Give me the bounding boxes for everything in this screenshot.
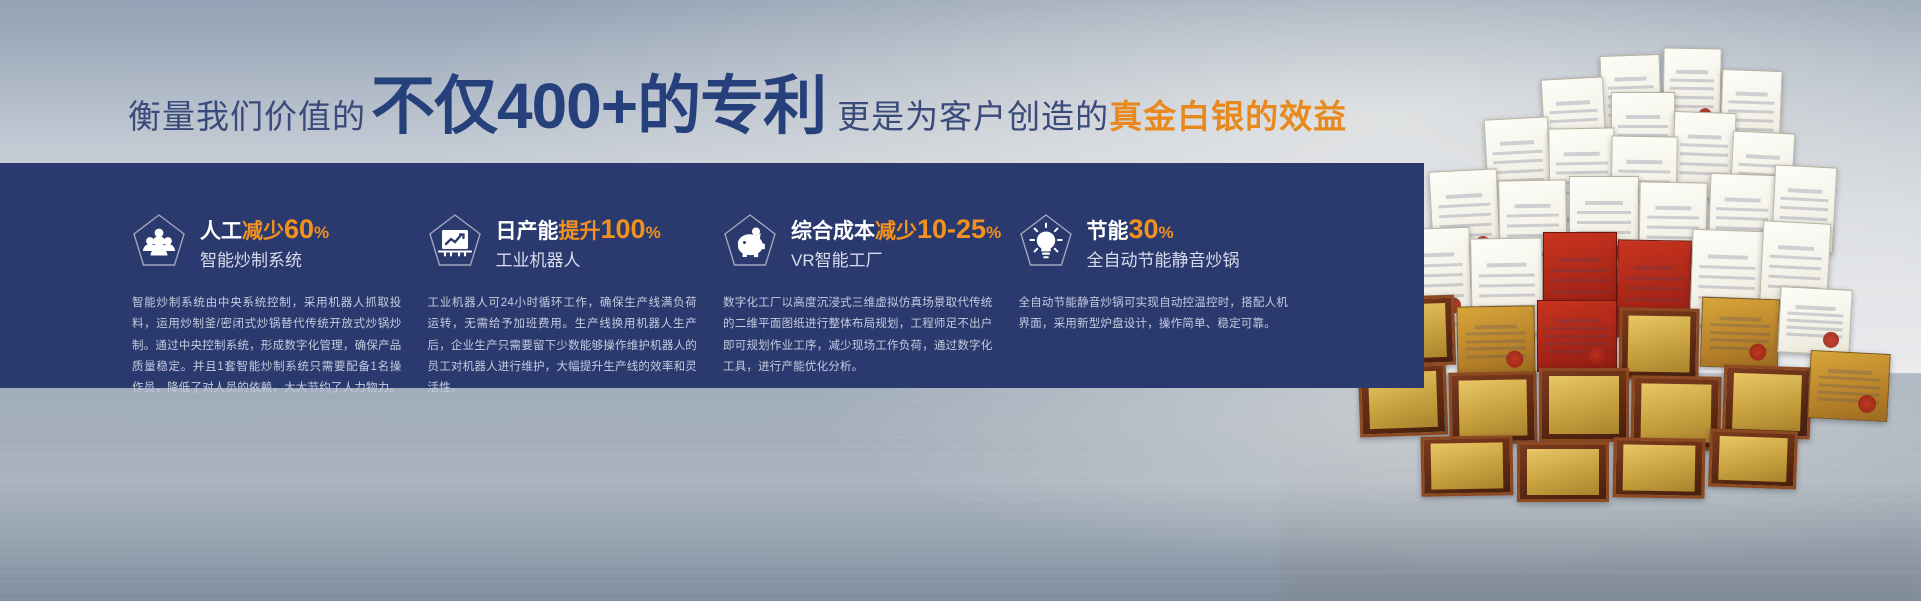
metric-number: 10-25 <box>917 214 986 244</box>
cert-line <box>1546 327 1608 330</box>
headline-accent: 真金白银的效益 <box>1109 90 1347 138</box>
cert-line <box>1546 335 1608 338</box>
piggy-bank-icon <box>723 213 777 271</box>
cert-line <box>1788 188 1822 194</box>
cert-line <box>1474 324 1517 329</box>
cert-line <box>1500 140 1535 146</box>
feature-title-4: 节能30%全自动节能静音炒锅 <box>1087 214 1240 269</box>
cert-line <box>1670 78 1715 82</box>
cert-line <box>1710 331 1771 336</box>
metric-prefix: 人工 <box>200 220 242 243</box>
plaque-face <box>1732 373 1803 431</box>
cert-line <box>1647 226 1700 230</box>
cert-line <box>1677 70 1708 75</box>
cert-line <box>1514 204 1551 209</box>
cert-line <box>1551 279 1609 282</box>
cert-line <box>1708 255 1747 260</box>
headline: 衡量我们价值的 不仅400+的专利 更是为客户创造的 真金白银的效益 <box>128 74 1347 138</box>
cert-line <box>1577 221 1631 224</box>
cert-line <box>1549 109 1597 115</box>
cert-line <box>1680 143 1728 148</box>
cert-line <box>1680 152 1728 157</box>
cert-line <box>1735 92 1768 97</box>
metric-prefix: 节能 <box>1087 220 1129 243</box>
cert-line <box>1507 224 1560 228</box>
cert-seal <box>1823 331 1840 348</box>
cert-line <box>1670 87 1715 91</box>
cert-line <box>1607 86 1653 91</box>
feature-metric-2: 日产能提升100% <box>496 214 661 244</box>
cert-line <box>1494 168 1544 174</box>
feature-header-4: 节能30%全自动节能静音炒锅 <box>1019 163 1289 271</box>
cert-line <box>1647 216 1700 220</box>
cert-line <box>1787 325 1843 331</box>
cert-seal <box>1858 395 1877 414</box>
cert-line <box>1655 206 1692 211</box>
plaque-face <box>1627 316 1690 373</box>
cert-line <box>1769 265 1822 271</box>
cert-line <box>1487 263 1526 268</box>
cert-line <box>1746 154 1780 160</box>
people-group-icon <box>132 213 186 271</box>
cert-line <box>1619 170 1670 174</box>
feature-title-3: 综合成本减少10-25%VR智能工厂 <box>791 214 1001 269</box>
cert-line <box>1634 266 1674 271</box>
metric-prefix: 日产能 <box>496 220 559 243</box>
cert-line <box>1479 273 1535 277</box>
cert-line <box>1551 290 1609 293</box>
cert-line <box>1625 287 1683 291</box>
certificate-38 <box>1708 428 1798 489</box>
feature-body-4: 全自动节能静音炒锅可实现自动控温控时，搭配人机界面，采用新型炉盘设计，操作简单、… <box>1019 293 1289 336</box>
cert-line <box>1465 332 1526 336</box>
feature-item-1: 人工减少60%智能炒制系统智能炒制系统由中央系统控制，采用机器人抓取投料，运用炒… <box>132 163 428 388</box>
cert-line <box>1625 276 1683 280</box>
feature-header-3: 综合成本减少10-25%VR智能工厂 <box>723 163 993 271</box>
cert-line <box>1688 134 1722 139</box>
cert-line <box>1768 275 1821 281</box>
feature-title-2: 日产能提升100%工业机器人 <box>496 214 661 269</box>
cert-line <box>1564 152 1600 157</box>
cert-line <box>1555 319 1599 323</box>
certificate-28 <box>1777 286 1852 356</box>
cert-line <box>1556 171 1607 175</box>
plaque-face <box>1430 443 1503 490</box>
cert-line <box>1614 77 1647 82</box>
certificate-24 <box>1456 305 1535 376</box>
cert-line <box>1680 162 1728 167</box>
cert-line <box>1780 197 1828 203</box>
cert-seal <box>1507 351 1524 368</box>
cert-line <box>1556 161 1607 165</box>
headline-emphasis: 不仅400+的专利 <box>366 74 831 138</box>
metric-highlight: 减少 <box>242 220 284 243</box>
cert-line <box>1779 215 1827 221</box>
feature-item-3: 综合成本减少10-25%VR智能工厂数字化工厂以高度沉浸式三维虚拟仿真场景取代传… <box>723 163 1019 388</box>
cert-line <box>1709 338 1770 343</box>
certificate-35 <box>1420 435 1513 497</box>
certificate-30 <box>1448 371 1537 445</box>
metric-number: 60 <box>284 214 314 244</box>
feature-subtitle-3: VR智能工厂 <box>791 251 1001 270</box>
certificate-33 <box>1722 364 1812 439</box>
cert-line <box>1618 125 1668 128</box>
cert-line <box>1585 201 1623 205</box>
headline-middle: 更是为客户创造的 <box>831 90 1109 138</box>
feature-header-2: 日产能提升100%工业机器人 <box>428 163 698 271</box>
metric-unit: % <box>314 223 329 242</box>
cert-line <box>1796 305 1835 311</box>
cert-line <box>1626 115 1661 119</box>
cert-line <box>1818 383 1880 389</box>
feature-metric-4: 节能30% <box>1087 214 1240 244</box>
certificate-26 <box>1618 307 1699 380</box>
cert-line <box>1769 255 1822 261</box>
cert-line <box>1466 339 1527 343</box>
cert-line <box>1506 214 1559 218</box>
cert-line <box>1818 376 1880 382</box>
cert-line <box>1728 101 1774 106</box>
cert-line <box>1717 207 1768 212</box>
cert-line <box>1560 258 1600 262</box>
certificate-34 <box>1807 350 1890 422</box>
lightbulb-icon <box>1019 213 1073 271</box>
feature-body-3: 数字化工厂以高度沉浸式三维虚拟仿真场景取代传统的二维平面图纸进行整体布局规划，工… <box>723 293 993 378</box>
plaque-face <box>1718 436 1788 482</box>
cert-line <box>1777 245 1814 251</box>
cert-line <box>1699 285 1755 290</box>
cert-line <box>1699 265 1755 270</box>
feature-header-1: 人工减少60%智能炒制系统 <box>132 163 402 271</box>
cert-line <box>1550 118 1598 124</box>
cert-line <box>1699 275 1755 280</box>
cert-line <box>1438 203 1491 209</box>
cert-line <box>1716 216 1767 221</box>
cert-line <box>1780 206 1828 212</box>
certificate-31 <box>1539 368 1629 442</box>
certificate-25 <box>1537 300 1617 372</box>
cert-line <box>1556 100 1590 106</box>
feature-metric-1: 人工减少60% <box>200 214 329 244</box>
cert-line <box>1719 316 1762 321</box>
feature-title-1: 人工减少60%智能炒制系统 <box>200 214 329 269</box>
cert-line <box>1787 311 1843 317</box>
cert-line <box>1551 269 1609 272</box>
metric-unit: % <box>646 223 661 242</box>
plaque-face <box>1527 449 1599 494</box>
feature-body-1: 智能炒制系统由中央系统控制，采用机器人抓取投料，运用炒制釜/密闭式炒锅替代传统开… <box>132 293 402 399</box>
metric-prefix: 综合成本 <box>791 220 875 243</box>
cert-line <box>1439 213 1492 219</box>
cert-line <box>1626 160 1662 165</box>
features-list: 人工减少60%智能炒制系统智能炒制系统由中央系统控制，采用机器人抓取投料，运用炒… <box>0 163 1424 388</box>
plaque-face <box>1640 384 1712 442</box>
certificate-36 <box>1517 442 1609 502</box>
cert-seal <box>1587 346 1605 364</box>
metric-highlight: 减少 <box>875 220 917 243</box>
feature-subtitle-4: 全自动节能静音炒锅 <box>1087 251 1240 270</box>
feature-body-2: 工业机器人可24小时循环工作，确保生产线满负荷运转，无需给予加班费用。生产线换用… <box>428 293 698 399</box>
certificate-37 <box>1612 437 1705 499</box>
feature-subtitle-2: 工业机器人 <box>496 251 661 270</box>
cert-line <box>1493 150 1543 156</box>
cert-line <box>1577 211 1631 214</box>
cert-line <box>1625 297 1683 301</box>
metric-unit: % <box>1159 223 1174 242</box>
metric-number: 30 <box>1129 214 1159 244</box>
cert-line <box>1479 294 1535 298</box>
cert-seal <box>1749 344 1767 362</box>
feature-item-4: 节能30%全自动节能静音炒锅全自动节能静音炒锅可实现自动控温控时，搭配人机界面，… <box>1019 163 1315 388</box>
cert-line <box>1493 159 1543 165</box>
cert-line <box>1710 323 1771 328</box>
headline-prefix: 衡量我们价值的 <box>128 90 366 138</box>
feature-item-2: 日产能提升100%工业机器人工业机器人可24小时循环工作，确保生产线满负荷运转，… <box>428 163 724 388</box>
cert-line <box>1787 318 1843 324</box>
cert-line <box>1725 197 1761 202</box>
metric-highlight: 提升 <box>559 220 601 243</box>
cert-line <box>1546 342 1608 345</box>
cert-line <box>1466 347 1527 351</box>
cert-line <box>1445 193 1482 199</box>
cert-line <box>1479 284 1535 288</box>
cert-line <box>1669 96 1714 100</box>
feature-subtitle-1: 智能炒制系统 <box>200 251 329 270</box>
plaque-face <box>1458 380 1528 437</box>
metric-number: 100 <box>601 214 646 244</box>
plaque-face <box>1622 445 1695 492</box>
plaque-face <box>1549 376 1620 433</box>
cert-line <box>1828 369 1872 375</box>
metric-unit: % <box>986 223 1001 242</box>
chart-board-icon <box>428 213 482 271</box>
feature-metric-3: 综合成本减少10-25% <box>791 214 1001 244</box>
certificate-27 <box>1700 297 1780 370</box>
